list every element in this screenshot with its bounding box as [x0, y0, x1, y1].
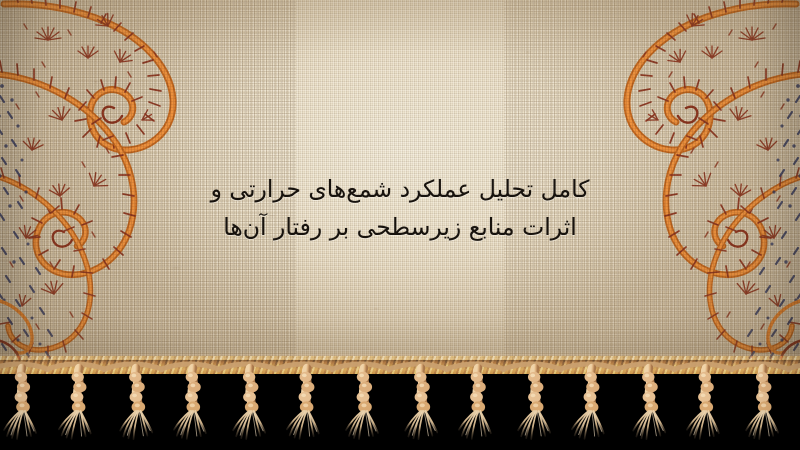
tassel-fringe [0, 360, 800, 450]
title-line-2: اثرات منابع زیرسطحی بر رفتار آن‌ها [223, 208, 577, 246]
title-block: کامل تحلیل عملکرد شمع‌های حرارتی و اثرات… [150, 166, 650, 250]
title-card-canvas: کامل تحلیل عملکرد شمع‌های حرارتی و اثرات… [0, 0, 800, 450]
title-line-1: کامل تحلیل عملکرد شمع‌های حرارتی و [211, 170, 590, 208]
